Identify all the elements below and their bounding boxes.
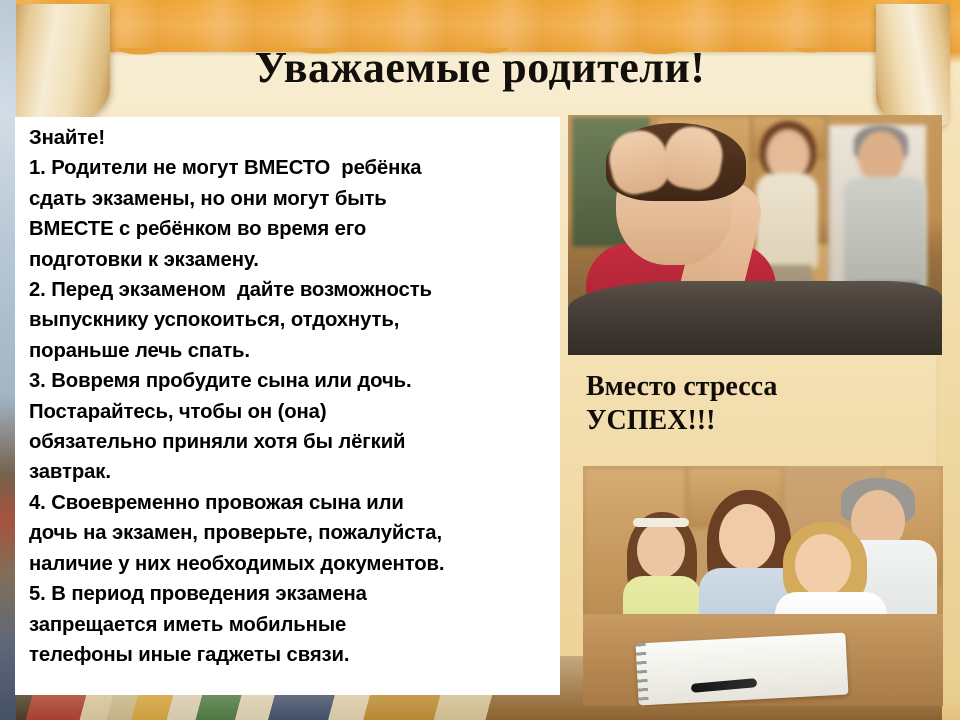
advice-line: 5. В период проведения экзамена	[29, 579, 552, 609]
kitchen-counter	[568, 281, 942, 355]
father-body	[844, 177, 926, 287]
advice-line: 3. Вовремя пробудите сына или дочь.	[29, 366, 552, 396]
advice-line: дочь на экзамен, проверьте, пожалуйста,	[29, 518, 552, 548]
advice-line: ВМЕСТЕ с ребёнком во время его	[29, 214, 552, 244]
photo-stressed-teenager	[568, 115, 942, 355]
boy-head	[795, 534, 851, 596]
girl-headband	[633, 518, 689, 527]
success-caption: Вместо стресса УСПЕХ!!!	[586, 370, 942, 438]
book-spines-edge	[0, 0, 16, 720]
photo-happy-family	[583, 466, 943, 706]
open-notebook	[636, 633, 849, 706]
advice-text-panel: Знайте! 1. Родители не могут ВМЕСТО ребё…	[15, 117, 560, 695]
advice-line: подготовки к экзамену.	[29, 245, 552, 275]
advice-line: наличие у них необходимых документов.	[29, 549, 552, 579]
advice-line: выпускнику успокоиться, отдохнуть,	[29, 305, 552, 335]
advice-line: 4. Своевременно провожая сына или	[29, 488, 552, 518]
advice-line: пораньше лечь спать.	[29, 336, 552, 366]
advice-line: обязательно приняли хотя бы лёгкий	[29, 427, 552, 457]
advice-line: телефоны иные гаджеты связи.	[29, 640, 552, 670]
page-title: Уважаемые родители!	[0, 42, 960, 93]
advice-line: сдать экзамены, но они могут быть	[29, 184, 552, 214]
advice-line: запрещается иметь мобильные	[29, 610, 552, 640]
notebook-spiral	[636, 643, 649, 705]
slide-canvas: Уважаемые родители! Знайте! 1. Родители …	[0, 0, 960, 720]
mother-body	[756, 173, 818, 269]
advice-line: Постарайтесь, чтобы он (она)	[29, 397, 552, 427]
advice-line: завтрак.	[29, 457, 552, 487]
girl-head	[637, 522, 685, 578]
advice-line: 2. Перед экзаменом дайте возможность	[29, 275, 552, 305]
mother-head	[719, 504, 775, 570]
advice-line: 1. Родители не могут ВМЕСТО ребёнка	[29, 153, 552, 183]
advice-line: Знайте!	[29, 123, 552, 153]
